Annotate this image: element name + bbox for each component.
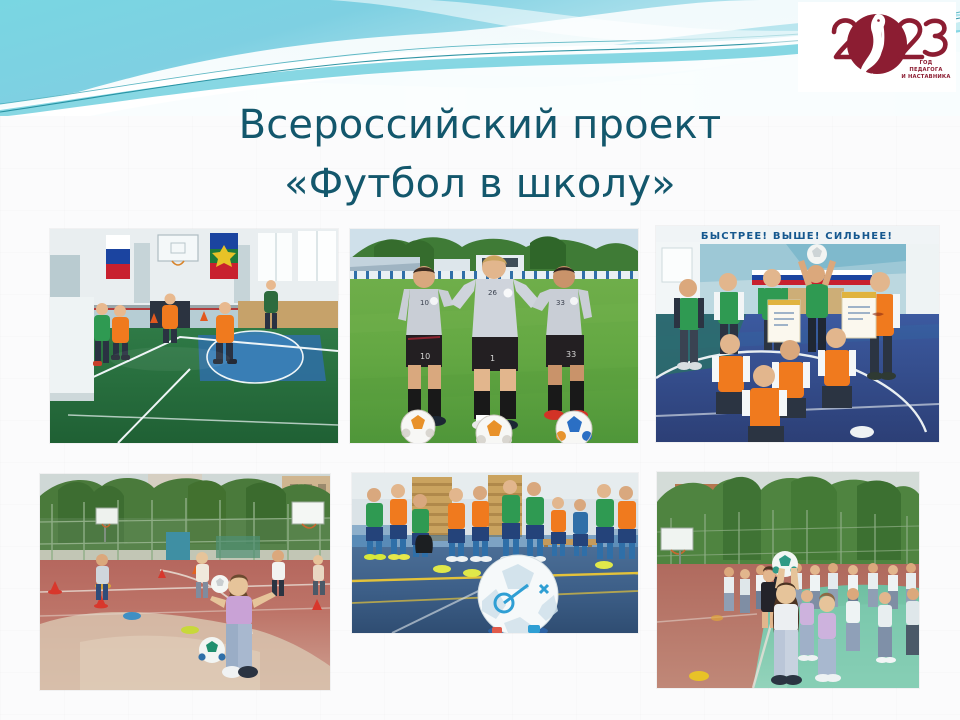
- svg-text:ГОД: ГОД: [920, 60, 933, 66]
- photo-outdoor-court-training: [40, 474, 330, 690]
- svg-text:33: 33: [566, 350, 576, 359]
- photo-team-with-certificates: БЫСТРЕЕ! ВЫШЕ! СИЛЬНЕЕ!: [656, 226, 939, 442]
- svg-text:1: 1: [490, 354, 495, 363]
- svg-text:26: 26: [488, 289, 497, 297]
- slide-title-line-2: «Футбол в школу»: [80, 155, 880, 214]
- photo-gym-orange-green-bibs: [50, 229, 338, 443]
- slide-title: Всероссийский проект «Футбол в школу»: [80, 96, 880, 214]
- svg-text:10: 10: [420, 299, 429, 307]
- photo-schoolyard-mass-event: [657, 472, 919, 688]
- svg-text:10: 10: [420, 352, 430, 361]
- photo-futsal-lineup-ball: [352, 473, 638, 633]
- svg-text:33: 33: [556, 299, 565, 307]
- svg-text:БЫСТРЕЕ! ВЫШЕ! СИЛЬНЕЕ!: БЫСТРЕЕ! ВЫШЕ! СИЛЬНЕЕ!: [701, 231, 893, 242]
- svg-text:ПЕДАГОГА: ПЕДАГОГА: [909, 67, 942, 73]
- svg-text:И НАСТАВНИКА: И НАСТАВНИКА: [901, 74, 950, 80]
- photo-three-boys-with-balls: 10 10 26 1: [350, 229, 638, 443]
- presentation-slide: ГОД ПЕДАГОГА И НАСТАВНИКА Всероссийский …: [0, 0, 960, 720]
- slide-title-line-1: Всероссийский проект: [80, 96, 880, 155]
- year-of-teacher-and-mentor-2023-logo: ГОД ПЕДАГОГА И НАСТАВНИКА: [798, 2, 956, 92]
